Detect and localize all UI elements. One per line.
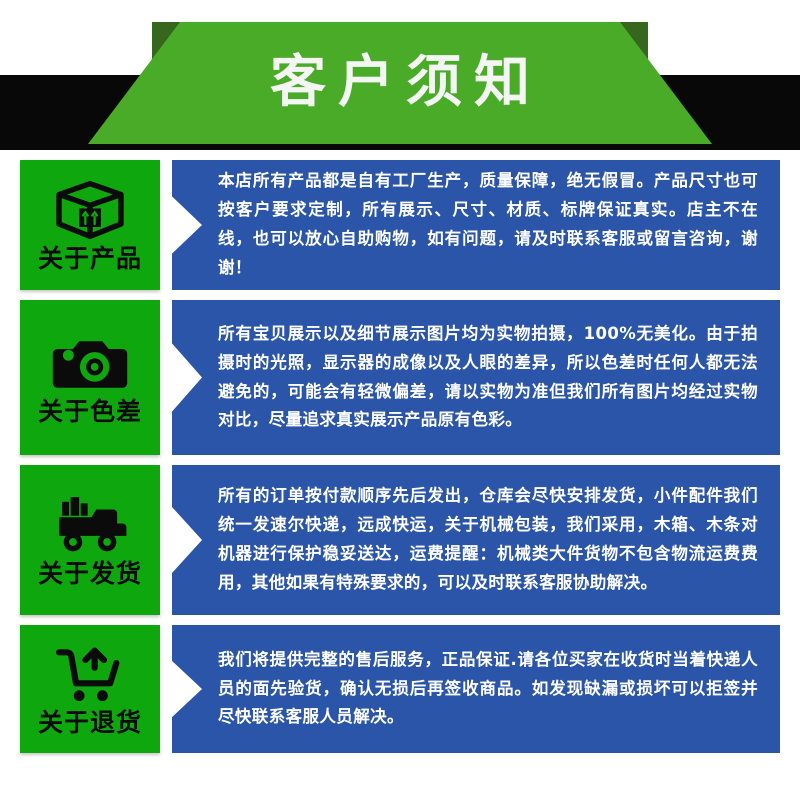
- badge-return[interactable]: 关于退货: [20, 625, 160, 753]
- badge-gap: [160, 300, 172, 455]
- panel-text-return: 我们将提供完整的售后服务，正品保证.请各位买家在收货时当着快递人员的面先验货，确…: [172, 636, 780, 743]
- notice-section-color: 关于色差 所有宝贝展示以及细节展示图片均为实物拍摄，100%无美化。由于拍摄时的…: [0, 300, 800, 455]
- badge-label-return: 关于退货: [38, 709, 142, 737]
- truck-icon: [49, 494, 131, 556]
- panel-product: 本店所有产品都是自有工厂生产，质量保障，绝无假冒。产品尺寸也可按客户要求定制，所…: [172, 160, 780, 290]
- panel-return: 我们将提供完整的售后服务，正品保证.请各位买家在收货时当着快递人员的面先验货，确…: [172, 625, 780, 753]
- badge-gap: [160, 625, 172, 753]
- notice-section-shipping: 关于发货 所有的订单按付款顺序先后发出，仓库会尽快安排发货，小件配件我们统一发速…: [0, 465, 800, 615]
- badge-color[interactable]: 关于色差: [20, 300, 160, 455]
- package-box-icon: [49, 179, 131, 241]
- panel-color: 所有宝贝展示以及细节展示图片均为实物拍摄，100%无美化。由于拍摄时的光照，显示…: [172, 300, 780, 455]
- badge-label-product: 关于产品: [38, 245, 142, 273]
- page-title: 客户须知: [0, 22, 800, 144]
- panel-shipping: 所有的订单按付款顺序先后发出，仓库会尽快安排发货，小件配件我们统一发速尔快递，远…: [172, 465, 780, 615]
- page-header: 客户须知: [0, 0, 800, 160]
- return-cart-icon: [49, 643, 131, 705]
- notice-section-return: 关于退货 我们将提供完整的售后服务，正品保证.请各位买家在收货时当着快递人员的面…: [0, 625, 800, 753]
- panel-text-shipping: 所有的订单按付款顺序先后发出，仓库会尽快安排发货，小件配件我们统一发速尔快递，远…: [172, 472, 780, 608]
- badge-label-shipping: 关于发货: [38, 560, 142, 588]
- badge-label-color: 关于色差: [38, 398, 142, 426]
- notice-section-product: 关于产品 本店所有产品都是自有工厂生产，质量保障，绝无假冒。产品尺寸也可按客户要…: [0, 160, 800, 290]
- badge-gap: [160, 160, 172, 290]
- camera-icon: [49, 332, 131, 394]
- badge-shipping[interactable]: 关于发货: [20, 465, 160, 615]
- panel-text-color: 所有宝贝展示以及细节展示图片均为实物拍摄，100%无美化。由于拍摄时的光照，显示…: [172, 310, 780, 446]
- badge-product[interactable]: 关于产品: [20, 160, 160, 290]
- notice-sections: 关于产品 本店所有产品都是自有工厂生产，质量保障，绝无假冒。产品尺寸也可按客户要…: [0, 160, 800, 763]
- panel-text-product: 本店所有产品都是自有工厂生产，质量保障，绝无假冒。产品尺寸也可按客户要求定制，所…: [172, 157, 780, 293]
- badge-gap: [160, 465, 172, 615]
